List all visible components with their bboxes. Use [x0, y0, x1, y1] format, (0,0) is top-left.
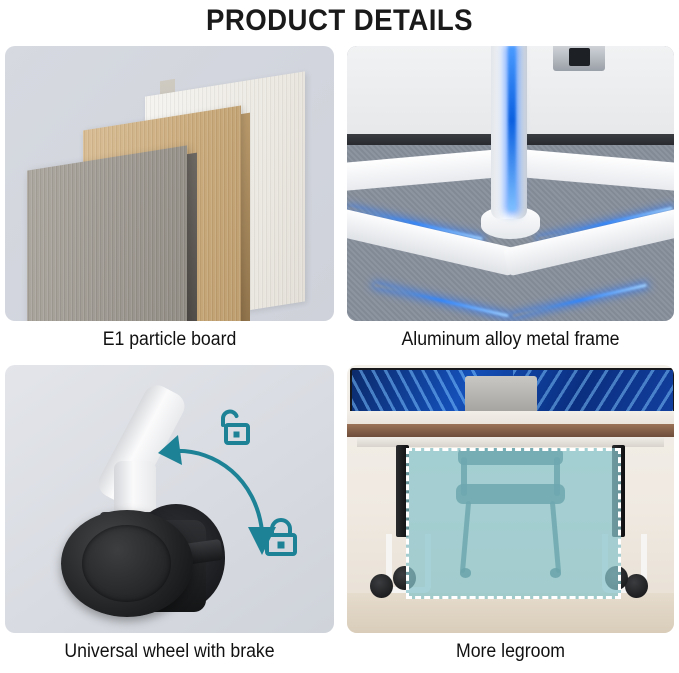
caption-more-legroom: More legroom	[358, 641, 662, 663]
wood-floor	[347, 593, 674, 633]
legroom-photo	[347, 365, 674, 633]
panel-aluminum-frame: Aluminum alloy metal frame	[347, 46, 674, 321]
caption-universal-wheel: Universal wheel with brake	[17, 641, 323, 663]
panel-grid: E1 particle board Aluminum al	[0, 42, 679, 673]
panel-e1-particle-board: E1 particle board	[5, 46, 334, 321]
caption-aluminum-frame: Aluminum alloy metal frame	[358, 329, 662, 351]
legroom-highlight-area	[406, 448, 621, 599]
product-details-infographic: PRODUCT DETAILS E1 particle board	[0, 0, 679, 673]
blue-glow-column	[508, 46, 517, 211]
boards-photo	[5, 46, 334, 321]
desk-caster-front-left	[370, 574, 393, 598]
page-title: PRODUCT DETAILS	[27, 0, 652, 42]
caster-photo	[5, 365, 334, 633]
monitor-stand	[553, 46, 605, 71]
panel-more-legroom: More legroom	[347, 365, 674, 633]
panel-universal-wheel: Universal wheel with brake	[5, 365, 334, 633]
desk-caster-front-right	[625, 574, 648, 598]
desk-top-surface	[347, 424, 674, 437]
gray-board	[27, 145, 187, 321]
curved-arrow-icon	[156, 419, 286, 559]
caption-e1-particle-board: E1 particle board	[17, 329, 323, 351]
frame-photo	[347, 46, 674, 321]
